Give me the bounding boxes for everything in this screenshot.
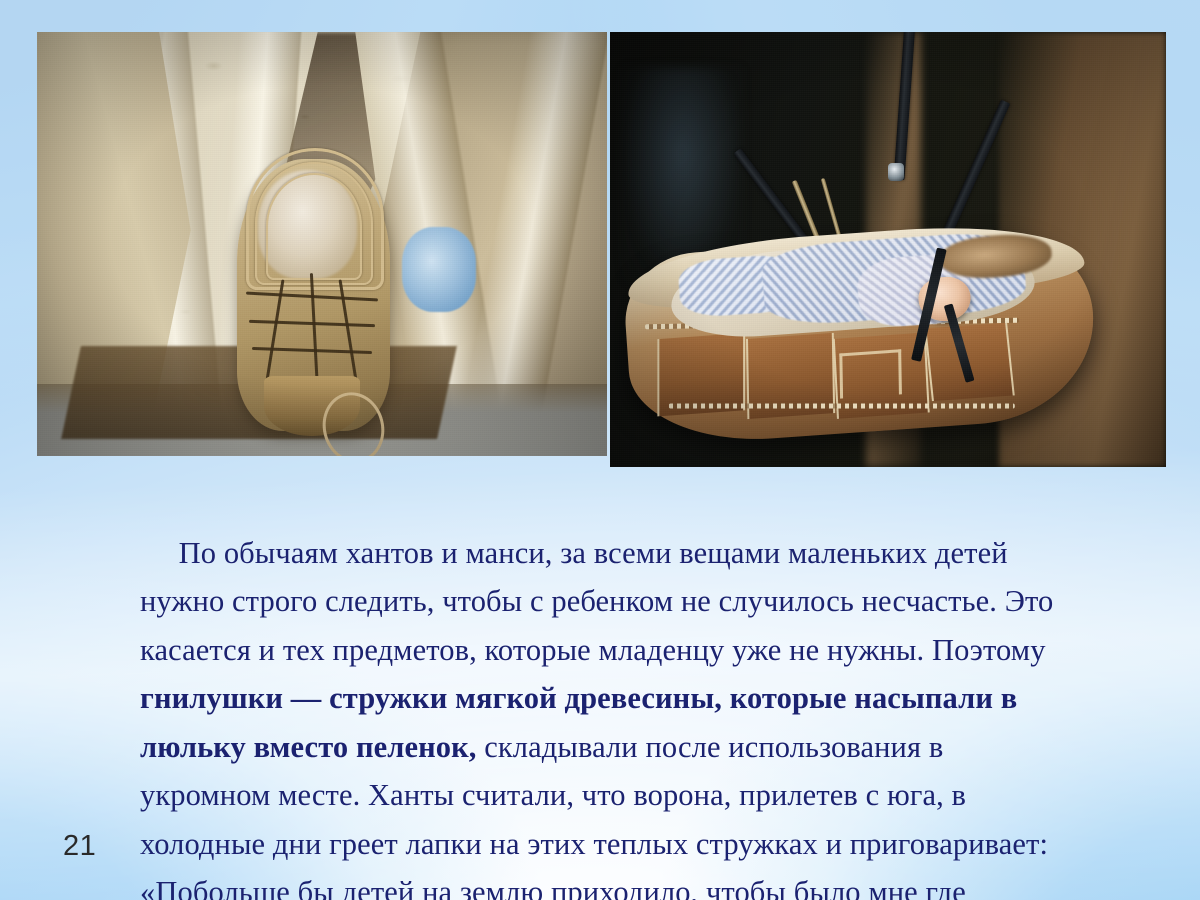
hanging-cradle-baby-photo	[610, 32, 1166, 467]
slide-body-text: По обычаям хантов и манси, за всеми веща…	[140, 480, 1064, 900]
text-segment-normal-1: По обычаям хантов и манси, за всеми веща…	[140, 536, 1061, 667]
chum-cradle-photo	[37, 32, 607, 456]
photo-vignette	[610, 32, 1166, 467]
photo-vignette	[37, 32, 607, 456]
page-number: 21	[63, 830, 96, 863]
slide-canvas: По обычаям хантов и манси, за всеми веща…	[0, 0, 1200, 900]
